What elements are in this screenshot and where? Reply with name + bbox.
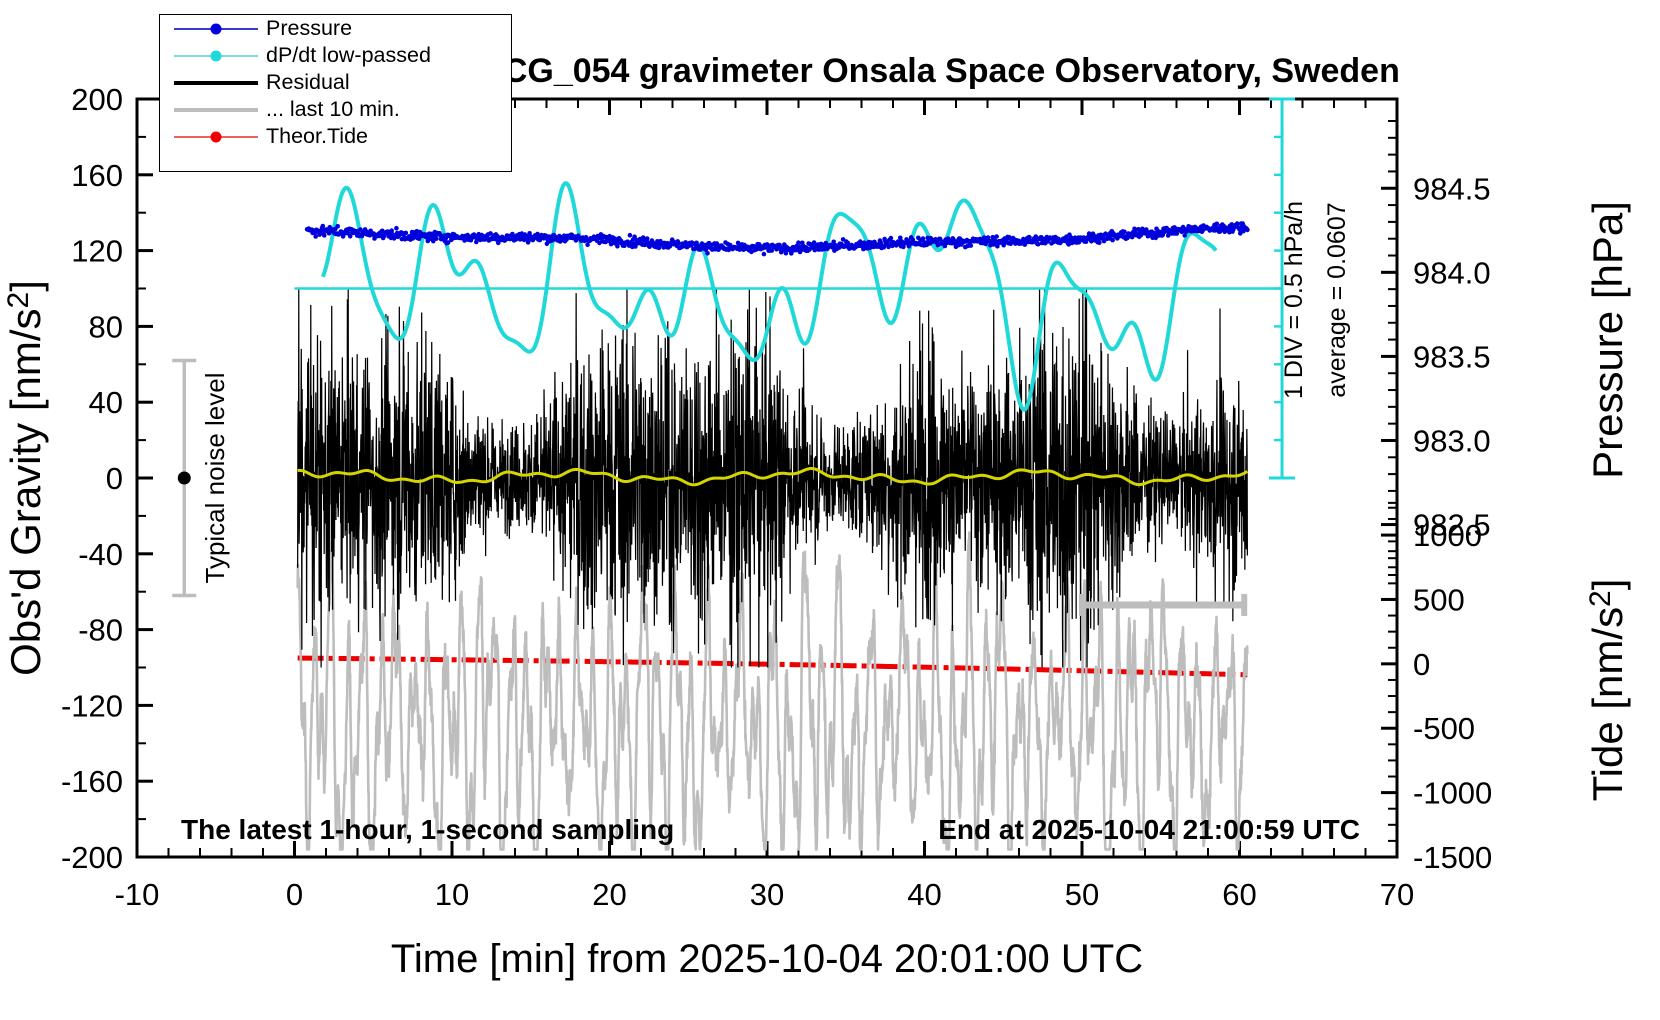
y-axis-pressure-title: Pressure [hPa]: [1584, 201, 1631, 479]
y-axis-tide-tick-label: -1500: [1413, 840, 1492, 875]
legend-swatch-tide: [174, 127, 258, 147]
y-axis-tide-title: Tide [nm/s2]: [1584, 579, 1631, 802]
y-axis-left-tick-label: 0: [106, 461, 123, 496]
div-scale-label: 1 DIV = 0.5 hPa/h: [1280, 201, 1308, 399]
y-axis-pressure-tick-label: 983.0: [1413, 423, 1491, 458]
footer-left-label: The latest 1-hour, 1-second sampling: [181, 814, 674, 845]
legend-swatch-residual: [174, 73, 258, 93]
y-axis-tide-tick-label: 0: [1413, 647, 1430, 682]
y-axis-left-tick-label: 120: [71, 234, 123, 269]
x-axis-tick-label: 40: [907, 877, 941, 912]
legend-label-residual: Residual: [266, 70, 350, 95]
legend-label-tide: Theor.Tide: [266, 124, 368, 149]
y-axis-pressure-tick-label: 984.5: [1413, 171, 1491, 206]
y-axis-pressure-tick-label: 983.5: [1413, 339, 1491, 374]
y-axis-left-tick-label: -80: [78, 613, 123, 648]
legend-swatch-last10: [174, 100, 258, 120]
noise-marker: [178, 472, 191, 485]
y-axis-left-tick-label: -160: [61, 764, 123, 799]
series-last-10-min: [298, 532, 1248, 849]
x-axis-tick-label: 50: [1065, 877, 1099, 912]
y-axis-left-tick-label: 40: [89, 385, 123, 420]
y-axis-left-tick-label: 160: [71, 158, 123, 193]
y-axis-tide-tick-label: 500: [1413, 582, 1465, 617]
chart-title: SCG_054 gravimeter Onsala Space Observat…: [480, 52, 1400, 90]
y-axis-left-tick-label: -40: [78, 537, 123, 572]
y-axis-tide-tick-label: 1000: [1413, 518, 1482, 553]
y-axis-pressure-tick-label: 984.0: [1413, 255, 1491, 290]
footer-right-label: End at 2025-10-04 21:00:59 UTC: [938, 814, 1360, 845]
legend-item-residual[interactable]: Residual: [174, 69, 511, 96]
x-axis-tick-label: 70: [1380, 877, 1414, 912]
x-axis-tick-label: 60: [1222, 877, 1256, 912]
legend-item-tide[interactable]: Theor.Tide: [174, 123, 511, 150]
legend-swatch-dpdt: [174, 46, 258, 66]
x-axis-tick-label: 30: [750, 877, 784, 912]
x-axis-tick-label: 10: [435, 877, 469, 912]
y-axis-left-tick-label: -200: [61, 840, 123, 875]
y-axis-tide-tick-label: -500: [1413, 711, 1475, 746]
y-axis-left-title: Obs'd Gravity [nm/s2]: [2, 280, 49, 676]
legend-item-last10[interactable]: ... last 10 min.: [174, 96, 511, 123]
typical-noise-level-label: Typical noise level: [200, 373, 230, 584]
chart-legend: Pressure dP/dt low-passed Residual ... l…: [159, 14, 512, 172]
legend-label-last10: ... last 10 min.: [266, 97, 400, 122]
x-axis-tick-label: -10: [115, 877, 160, 912]
y-axis-tide-tick-label: -1000: [1413, 776, 1492, 811]
legend-item-pressure[interactable]: Pressure: [174, 15, 511, 42]
average-label: average = 0.0607: [1323, 202, 1351, 397]
chart-page: -10010203040506070Time [min] from 2025-1…: [0, 0, 1660, 1020]
legend-label-dpdt: dP/dt low-passed: [266, 43, 431, 68]
y-axis-left-tick-label: -120: [61, 688, 123, 723]
legend-item-dpdt[interactable]: dP/dt low-passed: [174, 42, 511, 69]
legend-swatch-pressure: [174, 19, 258, 39]
y-axis-left-tick-label: 80: [89, 309, 123, 344]
x-axis-tick-label: 20: [592, 877, 626, 912]
legend-label-pressure: Pressure: [266, 16, 352, 41]
y-axis-left-tick-label: 200: [71, 82, 123, 117]
x-axis-title: Time [min] from 2025-10-04 20:01:00 UTC: [391, 937, 1143, 981]
x-axis-tick-label: 0: [286, 877, 303, 912]
